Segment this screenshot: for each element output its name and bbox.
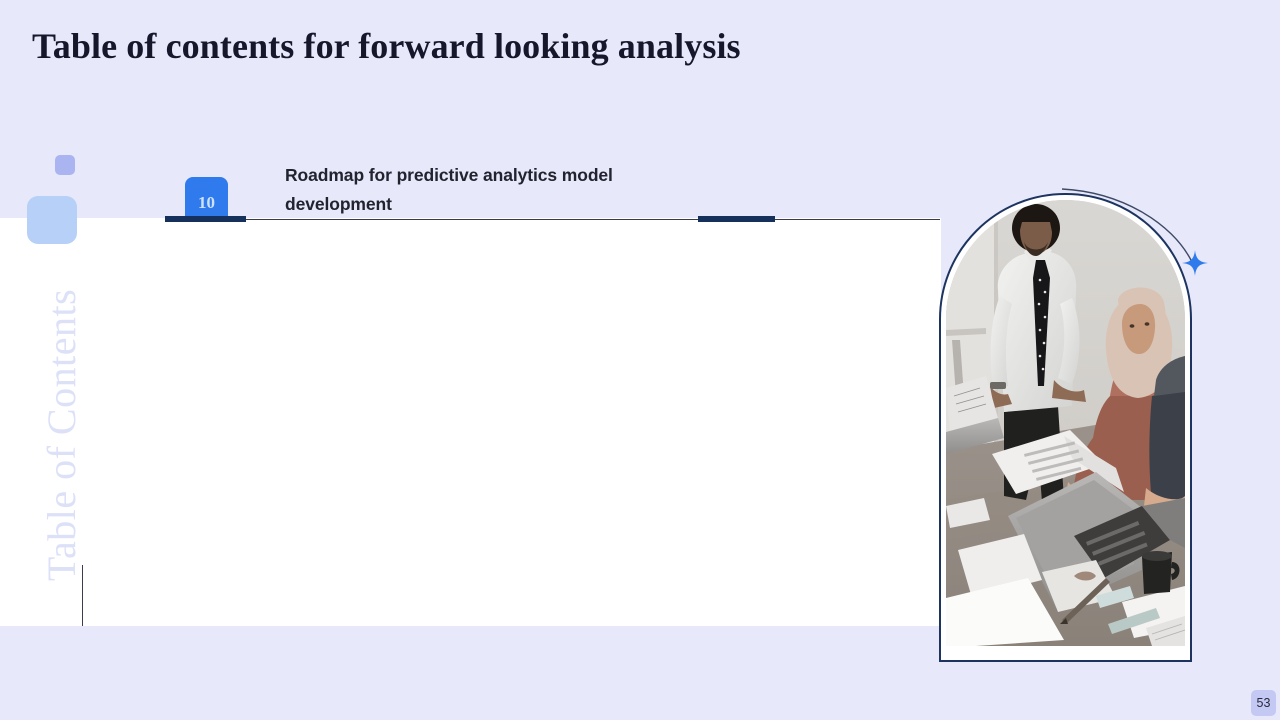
slide-canvas: Table of contents for forward looking an… <box>0 0 1280 720</box>
toc-entry-number-badge: 10 <box>185 177 228 220</box>
entry-divider-accent-left <box>165 216 246 222</box>
entry-divider-accent-right <box>698 216 775 222</box>
entry-divider-line <box>165 219 940 220</box>
sparkle-star-icon <box>1182 250 1208 276</box>
photo-container <box>946 200 1185 646</box>
toc-entry-label: Roadmap for predictive analytics model d… <box>285 161 705 219</box>
page-number-badge: 53 <box>1251 690 1276 716</box>
team-meeting-photo <box>946 200 1185 646</box>
